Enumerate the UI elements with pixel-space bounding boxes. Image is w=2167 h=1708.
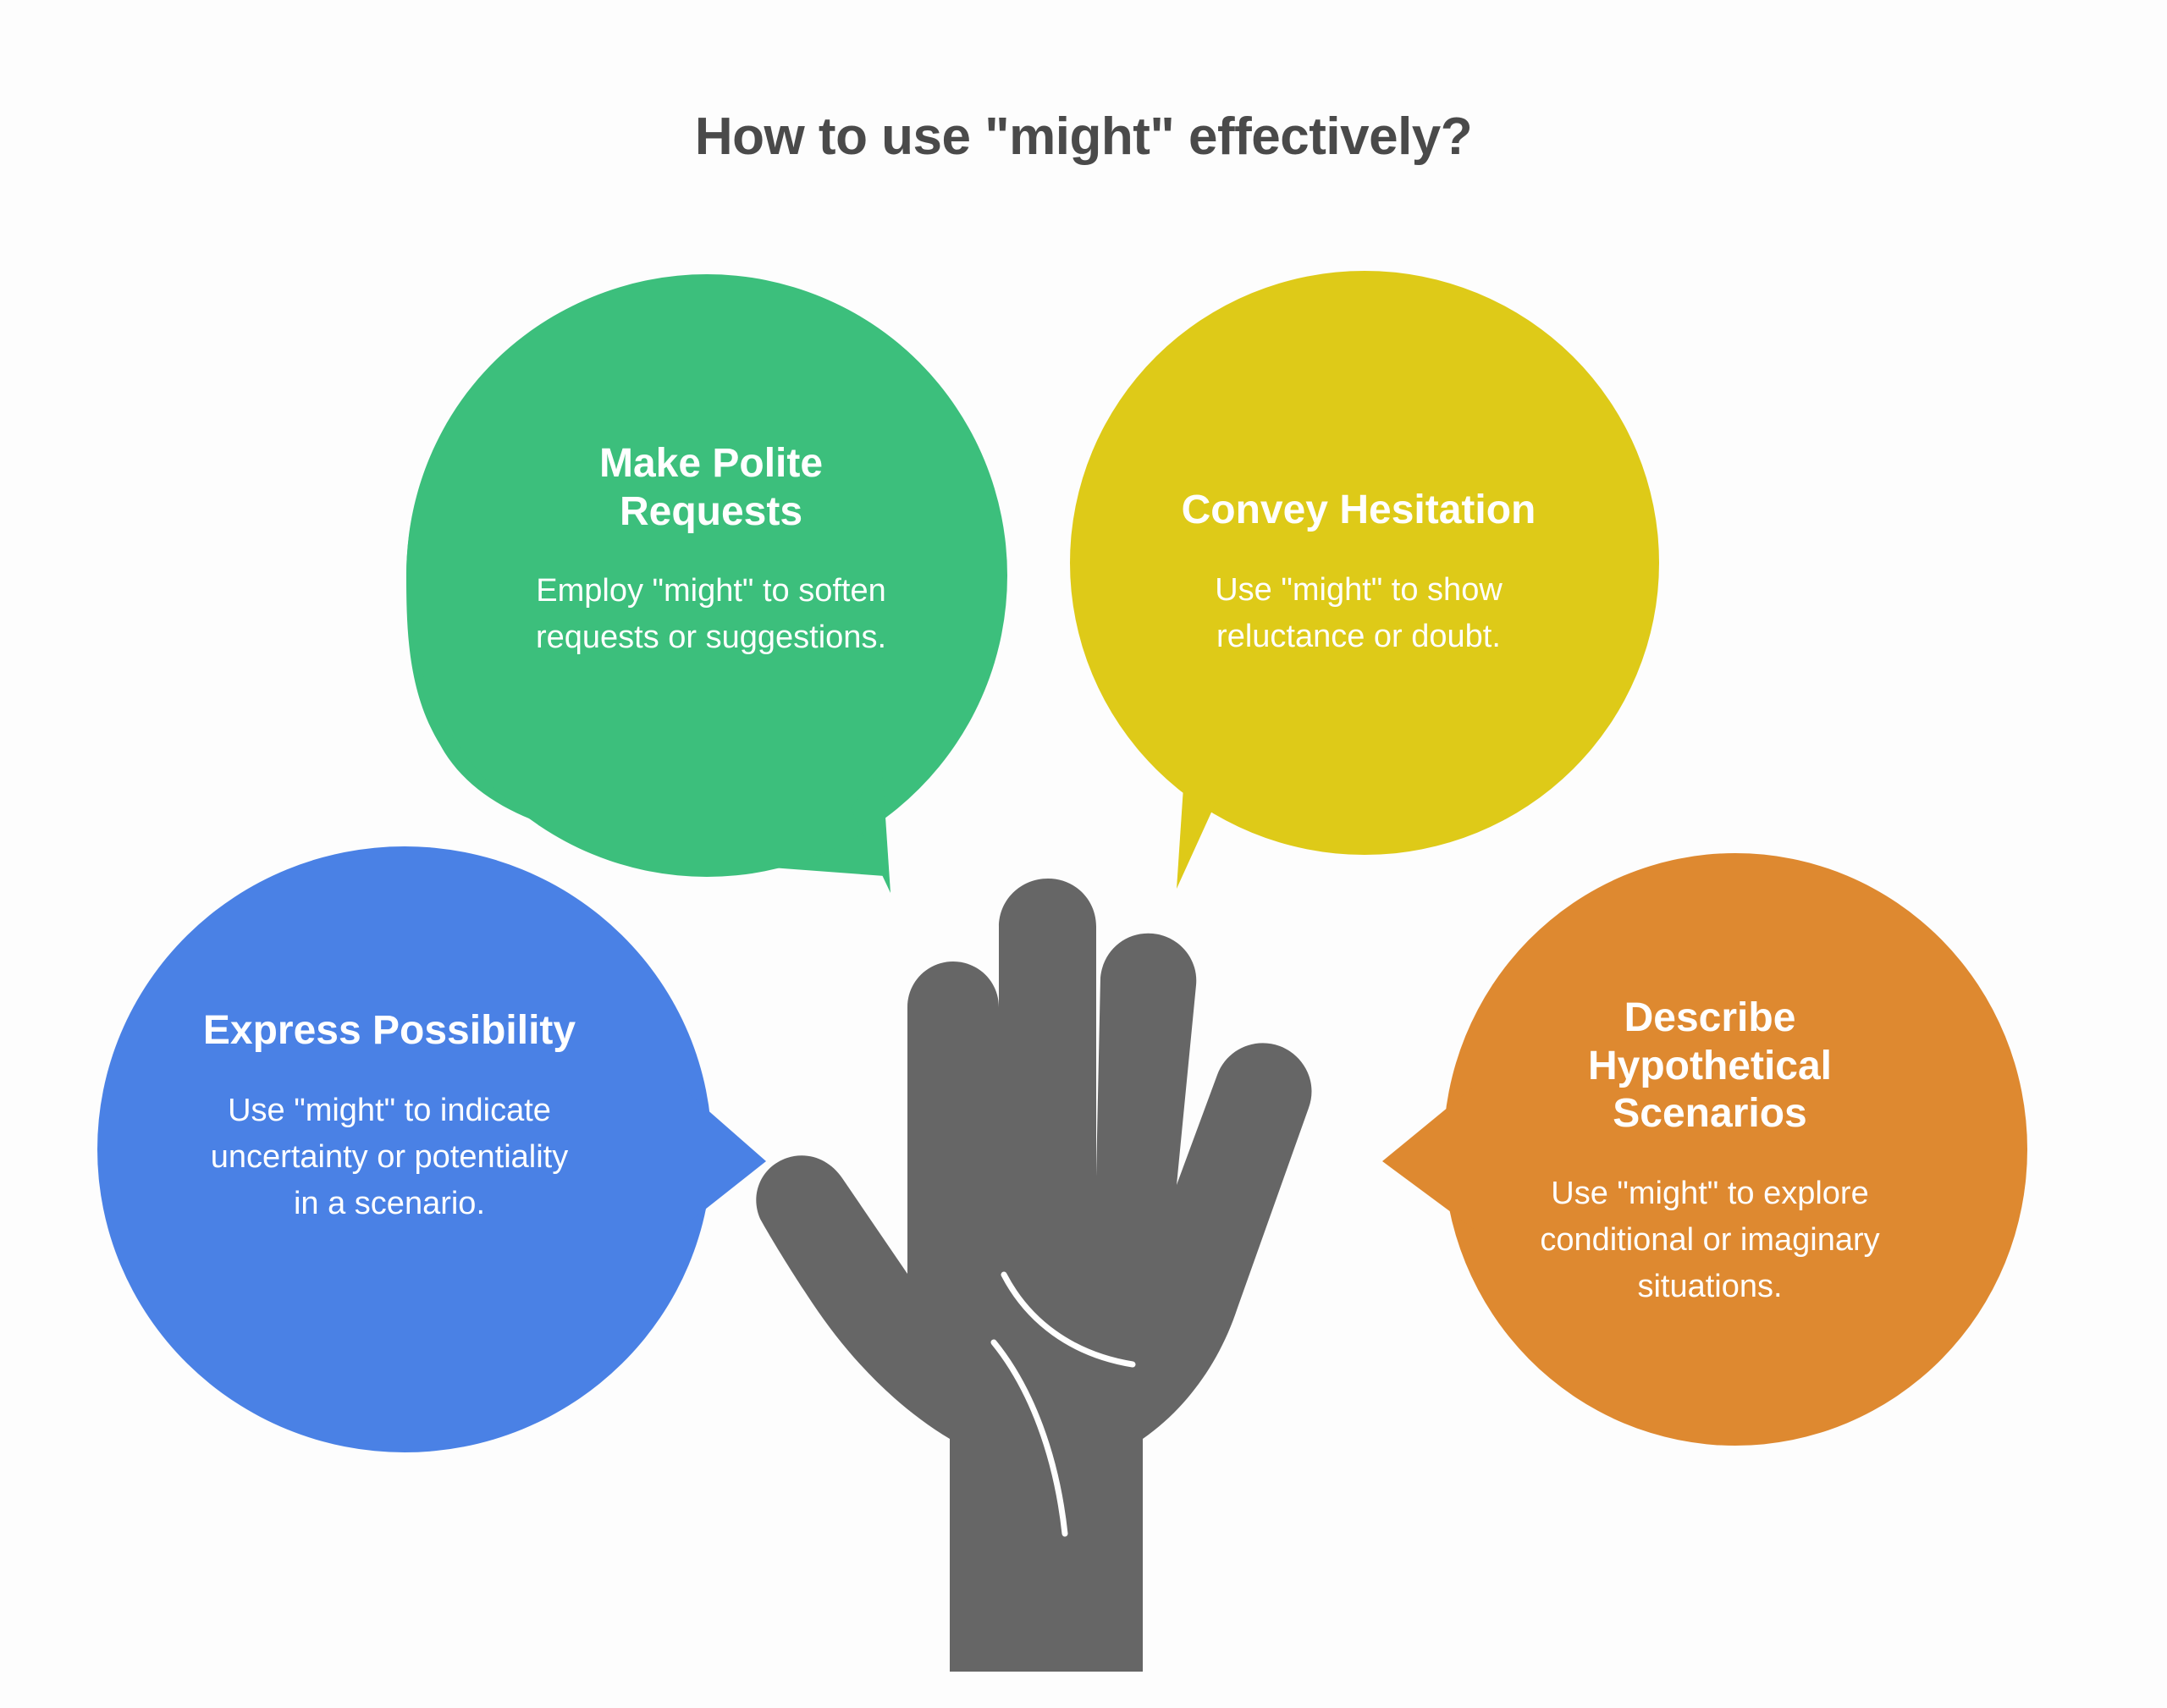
bubble-body-describe-hypothetical-scenarios: Use "might" to explore conditional or im… [1515, 1171, 1905, 1310]
infographic-canvas: How to use "might" effectively? [0, 0, 2167, 1708]
bubble-tail-blue [677, 1083, 766, 1231]
bubble-heading-express-possibility: Express Possibility [195, 1007, 584, 1055]
bubble-heading-describe-hypothetical-scenarios: Describe Hypothetical Scenarios [1515, 994, 1905, 1138]
infographic-scene [0, 0, 2167, 1708]
spacer [1515, 1138, 1905, 1171]
spacer [1168, 535, 1549, 567]
bubble-heading-make-polite-requests: Make Polite Requests [516, 440, 906, 536]
hand-shape [756, 879, 1311, 1672]
bubble-text-convey-hesitation: Convey Hesitation Use "might" to show re… [1168, 487, 1549, 660]
open-hand-palm-icon [756, 879, 1311, 1672]
bubble-body-convey-hesitation: Use "might" to show reluctance or doubt. [1168, 567, 1549, 660]
spacer [195, 1055, 584, 1088]
bubble-text-make-polite-requests: Make Polite Requests Employ "might" to s… [516, 440, 906, 661]
bubble-heading-convey-hesitation: Convey Hesitation [1168, 487, 1549, 535]
bubble-text-describe-hypothetical-scenarios: Describe Hypothetical Scenarios Use "mig… [1515, 994, 1905, 1310]
bubble-tail-orange [1382, 1083, 1477, 1231]
spacer [516, 536, 906, 568]
bubble-text-express-possibility: Express Possibility Use "might" to indic… [195, 1007, 584, 1227]
bubble-body-make-polite-requests: Employ "might" to soften requests or sug… [516, 568, 906, 661]
bubble-body-express-possibility: Use "might" to indicate uncertainty or p… [195, 1088, 584, 1227]
